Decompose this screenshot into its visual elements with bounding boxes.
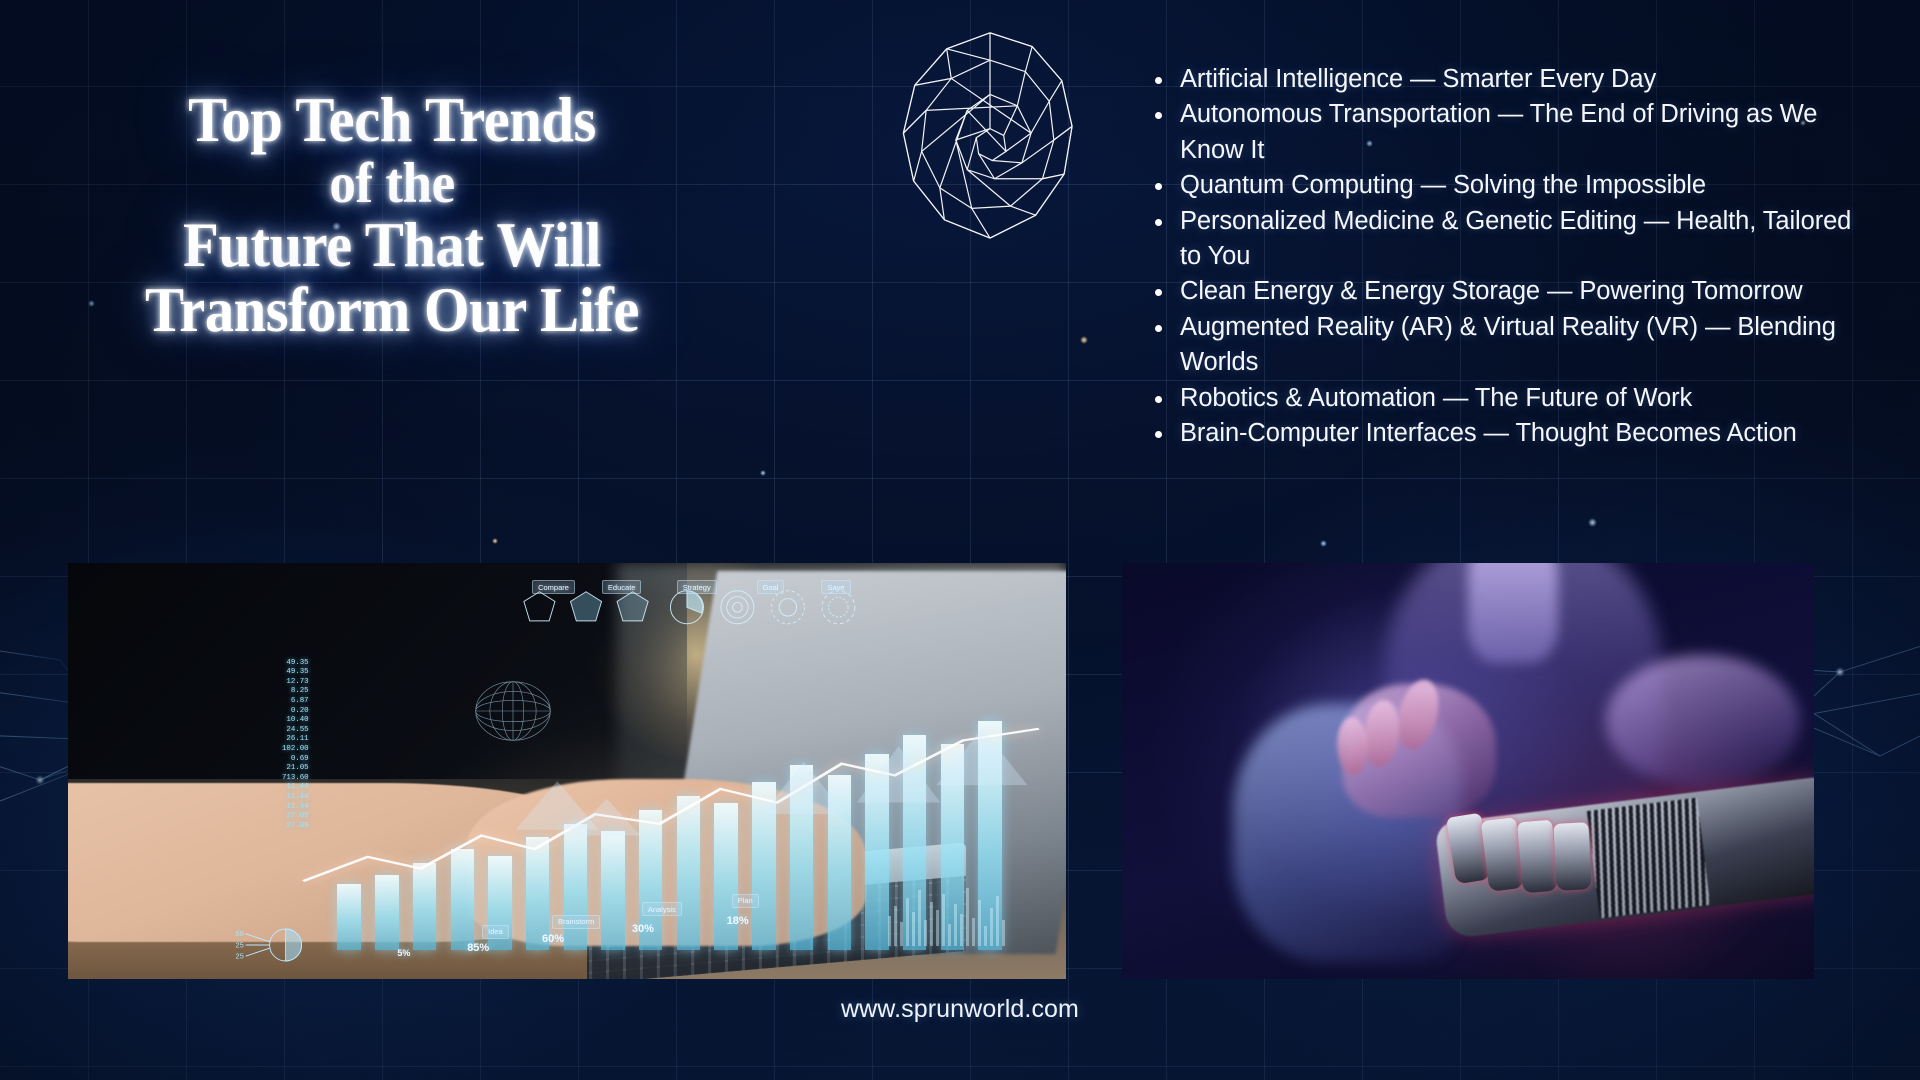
holo-tag: Goal <box>757 580 785 594</box>
process-label: Analysis <box>642 902 682 916</box>
percentage-label: 18% <box>727 915 749 927</box>
list-item-label: Brain-Computer Interfaces — Thought Beco… <box>1180 419 1797 447</box>
robotic-finger <box>1553 822 1591 890</box>
holo-mini-bars <box>886 876 1016 946</box>
list-item-label: Augmented Reality (AR) & Virtual Reality… <box>1180 313 1836 376</box>
gauge-value: 25 <box>235 953 244 961</box>
percentage-label: 85% <box>467 942 489 954</box>
robotic-arm-rings <box>1586 798 1709 919</box>
list-item: Robotics & Automation — The Future of Wo… <box>1146 381 1854 416</box>
wireframe-globe-icon <box>876 24 1104 256</box>
list-item: Autonomous Transportation — The End of D… <box>1146 97 1854 168</box>
gauge-value: 50 <box>235 931 244 939</box>
holo-number: 49.35 <box>263 659 309 669</box>
title-line-3: Future That Will <box>76 213 708 279</box>
list-item: Clean Energy & Energy Storage — Powering… <box>1146 274 1854 309</box>
list-item-label: Quantum Computing — Solving the Impossib… <box>1180 171 1706 199</box>
percentage-label: 5% <box>397 948 410 958</box>
website-url[interactable]: www.sprunworld.com <box>0 995 1920 1024</box>
holo-tag: Save <box>821 580 850 594</box>
holo-tag: Educate <box>602 580 642 594</box>
percentage-label: 60% <box>542 933 564 945</box>
person-neck <box>1468 563 1558 663</box>
photo-robotic-arm <box>1122 563 1814 979</box>
bullet-dot-icon <box>1155 325 1162 332</box>
bullet-dot-icon <box>1155 112 1162 119</box>
list-item-label: Robotics & Automation — The Future of Wo… <box>1180 384 1692 412</box>
holographic-overlay: 49.3549.3512.738.256.870.2010.4024.5526.… <box>68 563 1066 979</box>
holo-gauge-icon: 50 25 25 <box>228 921 308 969</box>
holo-number: 6.87 <box>263 697 309 707</box>
title-line-2: of the <box>76 154 708 213</box>
list-item: Brain-Computer Interfaces — Thought Beco… <box>1146 416 1854 451</box>
gauge-value: 25 <box>235 942 244 950</box>
process-label: Idea <box>482 925 509 939</box>
percentage-label: 30% <box>632 923 654 935</box>
bullet-dot-icon <box>1155 183 1162 190</box>
bullet-dot-icon <box>1155 219 1162 226</box>
robotic-finger <box>1517 820 1558 893</box>
bullet-dot-icon <box>1155 77 1162 84</box>
list-item-label: Clean Energy & Energy Storage — Powering… <box>1180 277 1803 305</box>
page-title: Top Tech Trends of the Future That Will … <box>76 88 708 344</box>
person-shoulder <box>1606 655 1800 788</box>
tech-trends-list: Artificial Intelligence — Smarter Every … <box>1146 62 1854 451</box>
holo-tag: Compare <box>532 580 575 594</box>
list-item-label: Artificial Intelligence — Smarter Every … <box>1180 65 1656 93</box>
bullet-dot-icon <box>1155 289 1162 296</box>
trends-items: Artificial Intelligence — Smarter Every … <box>1146 62 1854 451</box>
title-line-1: Top Tech Trends <box>76 88 708 154</box>
process-label: Brainstorm <box>552 915 600 929</box>
holo-number: 12.73 <box>263 678 309 688</box>
bullet-dot-icon <box>1155 431 1162 438</box>
holo-tag: Strategy <box>677 580 717 594</box>
list-item: Augmented Reality (AR) & Virtual Reality… <box>1146 310 1854 381</box>
list-item: Personalized Medicine & Genetic Editing … <box>1146 204 1854 275</box>
bullet-dot-icon <box>1155 396 1162 403</box>
holo-number: 0.20 <box>263 707 309 717</box>
list-item-label: Autonomous Transportation — The End of D… <box>1180 100 1817 163</box>
holo-number: 49.35 <box>263 668 309 678</box>
photo-laptop-analytics: 49.3549.3512.738.256.870.2010.4024.5526.… <box>68 563 1066 979</box>
title-line-4: Transform Our Life <box>76 278 708 344</box>
process-label: Plan <box>732 894 759 908</box>
holo-number: 8.25 <box>263 687 309 697</box>
list-item: Quantum Computing — Solving the Impossib… <box>1146 168 1854 203</box>
list-item: Artificial Intelligence — Smarter Every … <box>1146 62 1854 97</box>
list-item-label: Personalized Medicine & Genetic Editing … <box>1180 207 1851 270</box>
holo-line-graph <box>288 721 1046 896</box>
